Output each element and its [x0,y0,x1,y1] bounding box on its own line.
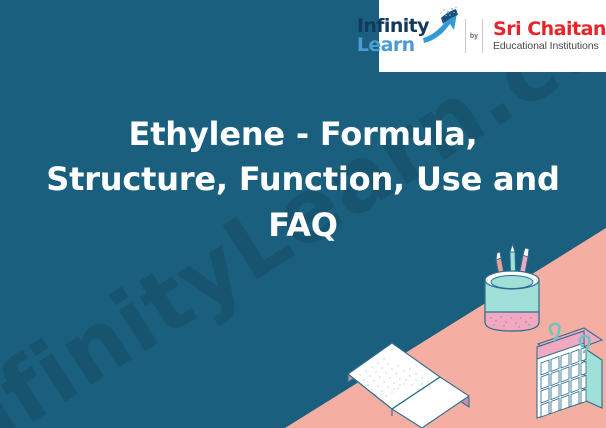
infinity-learn-logo[interactable]: Infinity Learn [355,10,451,62]
desk-illustration [330,230,606,428]
page-title-text: Ethylene - Formula, Structure, Function,… [34,112,572,248]
arrow-swoosh-icon [417,6,463,50]
page-title: Ethylene - Formula, Structure, Function,… [34,112,572,248]
logo-divider-right [482,19,483,53]
desk-calendar-icon [537,324,602,418]
logo-by-label: by [470,33,478,40]
logo-divider-left [465,19,466,53]
sri-chaitanya-subtitle: Educational Institutions [493,40,606,53]
logo-bar[interactable]: Infinity Learn by Sri Chaitanya Educatio… [379,0,606,72]
open-book-icon [348,343,469,428]
banner: InfinityLearn.com [0,0,606,428]
pencil-cup-icon [485,244,539,331]
sri-chaitanya-logo[interactable]: Sri Chaitanya Educational Institutions [487,20,606,53]
sri-chaitanya-name: Sri Chaitanya [493,20,606,40]
